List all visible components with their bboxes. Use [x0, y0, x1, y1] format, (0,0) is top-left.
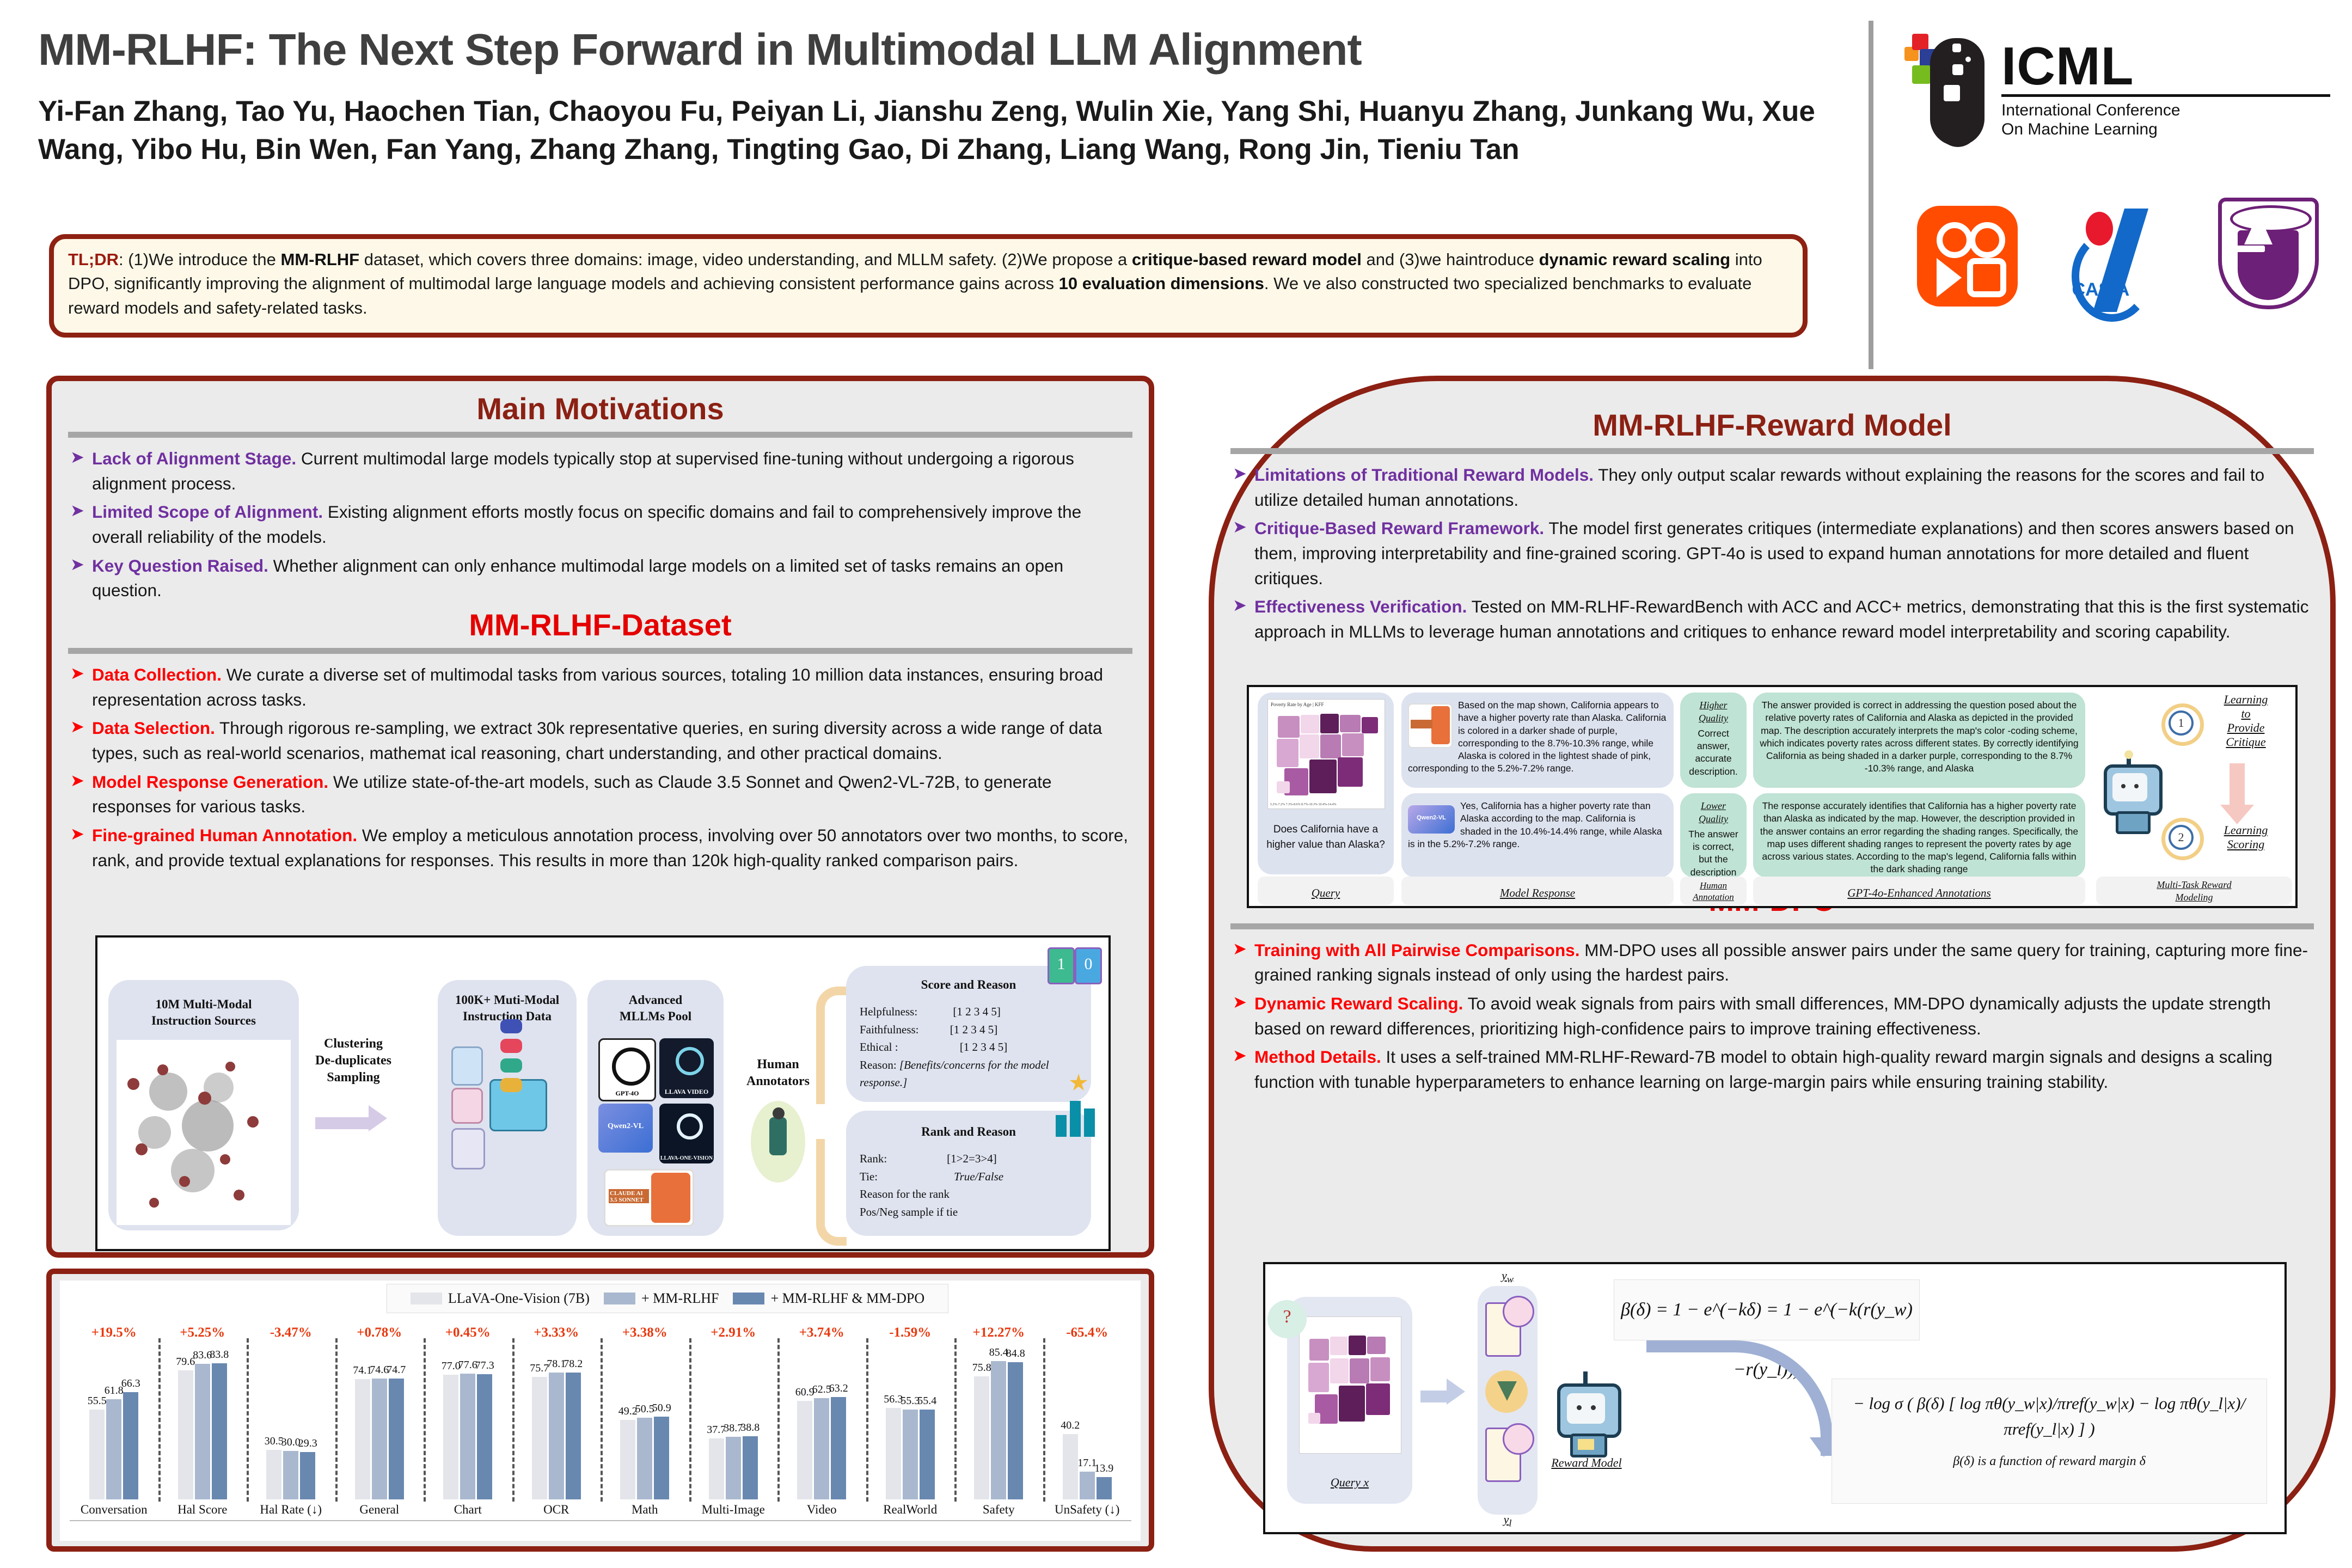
bar-group: 60.962.563.2	[777, 1353, 866, 1499]
score-key-2: Ethical :	[860, 1040, 898, 1053]
query-caption: Query	[1258, 877, 1394, 905]
bar-group: 75.778.178.2	[512, 1353, 601, 1499]
bullet-lead: Critique-Based Reward Framework.	[1254, 518, 1544, 538]
score-key-1: Faithfulness:	[860, 1023, 919, 1036]
bullet-lead: Key Question Raised.	[92, 556, 268, 575]
legend-swatch	[411, 1293, 442, 1304]
shield-icon	[451, 1128, 485, 1169]
section-title-reward-model: MM-RLHF-Reward Model	[1214, 407, 2330, 443]
stage1-line1: 10M Multi-Modal	[156, 997, 252, 1011]
dpo-list: ➤Training with All Pairwise Comparisons.…	[1214, 938, 2330, 1095]
annotators-line2: Annotators	[746, 1074, 810, 1088]
bar: 38.8	[743, 1436, 758, 1499]
bullet-arrow-icon: ➤	[1233, 462, 1247, 486]
reward-model-caption: Reward Model	[1548, 1456, 1625, 1470]
ha1-body: Correct answer, accurate description.	[1687, 727, 1740, 778]
bar: 74.6	[372, 1379, 387, 1499]
legend-label: + MM-RLHF	[641, 1290, 719, 1307]
bar-value-label: 84.8	[1000, 1347, 1031, 1360]
chat-bubble-icon	[451, 1088, 483, 1124]
chart-group: +3.33%75.778.178.2OCR	[512, 1323, 601, 1499]
chart-group: -1.59%56.355.355.4RealWorld	[866, 1323, 955, 1499]
human-annotation-caption: HumanAnnotation	[1680, 877, 1747, 905]
list-item: ➤Method Details. It uses a self-trained …	[1228, 1045, 2312, 1094]
mm-dpo-figure: Query x ? yw yl Reward Model β(δ) = 1 − …	[1263, 1262, 2287, 1534]
stage2-line1: 100K+ Muti-Modal	[455, 993, 559, 1007]
rank-key-0: Rank:	[860, 1152, 887, 1165]
step-2-badge: 2	[2161, 818, 2204, 860]
benchmark-bar-chart: LLaVA-One-Vision (7B)+ MM-RLHF+ MM-RLHF …	[60, 1281, 1141, 1541]
bar: 30.0	[283, 1451, 298, 1499]
bullet-arrow-icon: ➤	[1233, 593, 1247, 618]
reward-model-figure: Poverty Rate by Age | KFF 5.2%-7.2% 7.3%…	[1247, 685, 2298, 908]
bullet-lead: Model Response Generation.	[92, 772, 328, 792]
thumbs-down-icon	[1503, 1423, 1534, 1455]
logo-group: ICML International Conference On Machine…	[1889, 16, 2341, 365]
step-1-label: Learning to Provide Critique	[2205, 693, 2287, 749]
bar: 85.4	[991, 1361, 1006, 1499]
legend-label: LLaVA-One-Vision (7B)	[448, 1290, 590, 1307]
delta-label: -65.4%	[1043, 1325, 1132, 1340]
multitask-column: 1 Learning to Provide Critique 2 Learnin…	[2096, 693, 2292, 874]
qwen2vl-label: Qwen2-VL	[598, 1122, 653, 1131]
divider-dataset	[68, 648, 1132, 654]
chart-group: +0.45%77.077.677.3Chart	[424, 1323, 512, 1499]
group-separator	[247, 1338, 249, 1502]
tldr-part-3: critique-based reward model	[1132, 250, 1362, 269]
annotator-arrow-up-icon	[816, 987, 847, 1104]
delta-label: +0.45%	[424, 1325, 512, 1340]
bullet-body: It uses a self-trained MM-RLHF-Reward-7B…	[1254, 1047, 2273, 1092]
bullet-lead: Dynamic Reward Scaling.	[1254, 994, 1463, 1013]
llava-video-logo-icon: LLAVA VIDEO	[659, 1038, 714, 1098]
bar-value-label: 13.9	[1089, 1462, 1119, 1475]
flow-arrow-head-icon	[369, 1105, 387, 1131]
tldr-part-2: dataset, which covers three domains: ima…	[359, 250, 1132, 269]
casia-logo-icon: CASIA	[2062, 198, 2173, 315]
delta-label: +5.25%	[158, 1325, 247, 1340]
bar-group: 49.250.550.9	[601, 1353, 689, 1499]
robot-icon	[2100, 752, 2160, 829]
x-tick-label: RealWorld	[866, 1503, 955, 1517]
score-reason-key: Reason:	[860, 1058, 897, 1071]
bar: 77.6	[460, 1374, 475, 1499]
rank-extra-1: Reason for the rank	[860, 1185, 1088, 1203]
casia-label: CASIA	[2072, 279, 2129, 301]
bar-value-label: 40.2	[1055, 1419, 1086, 1432]
bullet-arrow-icon: ➤	[70, 499, 84, 523]
option-d-icon	[500, 1078, 522, 1092]
icml-wordmark: ICML International Conference On Machine…	[2001, 41, 2330, 139]
bullet-arrow-icon: ➤	[70, 661, 84, 686]
bullet-arrow-icon: ➤	[1233, 990, 1247, 1015]
tldr-box: TL;DR: (1)We introduce the MM-RLHF datas…	[49, 234, 1808, 338]
chart-plot-area: +19.5%55.561.866.3Conversation+5.25%79.6…	[70, 1323, 1131, 1519]
bar-group: 30.530.029.3	[247, 1353, 335, 1499]
step-2-label: Learning Scoring	[2205, 823, 2287, 852]
flow-arrow-shaft	[315, 1117, 370, 1129]
score-val-1: [1 2 3 4 5]	[950, 1023, 998, 1036]
response-caption: Model Response	[1401, 877, 1674, 905]
list-item: ➤Data Collection. We curate a diverse se…	[66, 663, 1130, 712]
x-tick-label: Hal Score	[158, 1503, 247, 1517]
thumbs-up-icon	[1503, 1296, 1534, 1327]
bar-group: 79.683.683.8	[158, 1353, 247, 1499]
bar: 17.1	[1080, 1472, 1095, 1499]
chart-group: -65.4%40.217.113.9UnSafety (↓)	[1043, 1323, 1132, 1499]
bullet-arrow-icon: ➤	[1233, 1044, 1247, 1068]
bar: 77.3	[477, 1374, 492, 1499]
bar-value-label: 63.2	[823, 1382, 854, 1395]
chart-group: +3.38%49.250.550.9Math	[601, 1323, 689, 1499]
arrow-label-2: De-duplicates	[315, 1053, 391, 1068]
claude-logo-icon: CLAUDE AI 3.5 SONNET	[604, 1169, 694, 1227]
x-tick-label: General	[335, 1503, 424, 1517]
tldr-part-1: MM-RLHF	[281, 250, 360, 269]
gpt-annotation-2: The response accurately identifies that …	[1753, 793, 2085, 878]
list-item: ➤Limited Scope of Alignment. Existing al…	[66, 500, 1130, 549]
bullet-arrow-icon: ➤	[70, 822, 84, 847]
author-list: Yi-Fan Zhang, Tao Yu, Haochen Tian, Chao…	[38, 93, 1829, 169]
bullet-lead: Limitations of Traditional Reward Models…	[1254, 465, 1594, 485]
bar: 55.5	[89, 1410, 105, 1499]
txt-file-icon	[451, 1046, 483, 1086]
divider-dpo	[1230, 923, 2314, 929]
bullet-lead: Data Collection.	[92, 665, 222, 684]
legend-item-2: + MM-RLHF & MM-DPO	[733, 1290, 924, 1307]
bar-group: 74.174.674.7	[335, 1353, 424, 1499]
x-tick-label: OCR	[512, 1503, 601, 1517]
score-key-0: Helpfulness:	[860, 1005, 917, 1018]
bar: 60.9	[797, 1401, 812, 1499]
page-title: MM-RLHF: The Next Step Forward in Multim…	[38, 24, 1824, 76]
dpo-flow-shaft	[1420, 1391, 1448, 1402]
x-tick-label: Hal Rate (↓)	[247, 1503, 335, 1517]
bar: 83.8	[212, 1363, 227, 1499]
tldr-part-5: dynamic reward scaling	[1539, 250, 1730, 269]
rank-val-0: [1>2=3>4]	[947, 1152, 997, 1165]
list-item: ➤Data Selection. Through rigorous re-sam…	[66, 716, 1130, 765]
tldr-part-0: : (1)We introduce the	[119, 250, 281, 269]
bar: 56.3	[886, 1408, 901, 1499]
bar-value-label: 50.9	[646, 1402, 677, 1414]
dataset-list: ➤Data Collection. We curate a diverse se…	[52, 663, 1149, 873]
bullet-arrow-icon: ➤	[70, 445, 84, 470]
list-item: ➤Effectiveness Verification. Tested on M…	[1228, 595, 2312, 644]
list-item: ➤Model Response Generation. We utilize s…	[66, 770, 1130, 819]
option-c-icon	[500, 1058, 522, 1073]
query-column: Poverty Rate by Age | KFF 5.2%-7.2% 7.3%…	[1258, 693, 1394, 874]
bar: 74.7	[389, 1379, 404, 1499]
legend-item-0: LLaVA-One-Vision (7B)	[411, 1290, 590, 1307]
chart-group: +2.91%37.738.738.8Multi-Image	[689, 1323, 778, 1499]
bullet-arrow-icon: ➤	[1233, 515, 1247, 540]
bullet-arrow-icon: ➤	[70, 769, 84, 793]
legend-label: + MM-RLHF & MM-DPO	[770, 1290, 924, 1307]
gpt-annotation-1: The answer provided is correct in addres…	[1753, 693, 2085, 788]
bar: 55.4	[920, 1410, 935, 1499]
icml-logo: ICML International Conference On Machine…	[1900, 22, 2330, 158]
bar: 75.8	[974, 1376, 989, 1499]
rank-extra-2: Pos/Neg sample if tie	[860, 1203, 1088, 1221]
legend-item-1: + MM-RLHF	[604, 1290, 719, 1307]
rank-key-1: Tie:	[860, 1170, 878, 1183]
list-item: ➤Lack of Alignment Stage. Current multim…	[66, 446, 1130, 496]
tsne-scatter-plot	[117, 1040, 291, 1225]
bullet-lead: Effectiveness Verification.	[1254, 597, 1467, 616]
bar-group: 75.885.484.8	[954, 1353, 1043, 1499]
x-tick-label: Video	[777, 1503, 866, 1517]
bar: 83.6	[195, 1364, 210, 1499]
human-annotation-1: Higher Quality Correct answer, accurate …	[1680, 693, 1747, 788]
score-val-0: [1 2 3 4 5]	[953, 1005, 1001, 1018]
model-response-1: Based on the map shown, California appea…	[1401, 693, 1674, 788]
list-item: ➤Critique-Based Reward Framework. The mo…	[1228, 516, 2312, 591]
bullet-lead: Fine-grained Human Annotation.	[92, 825, 357, 845]
ha2-head-2: Quality	[1687, 813, 1740, 826]
score-badge-1: 1	[1048, 947, 1075, 984]
icml-acronym: ICML	[2001, 41, 2330, 91]
chart-group: +3.74%60.962.563.2Video	[777, 1323, 866, 1499]
arrow-label-1: Clustering	[324, 1037, 383, 1051]
tldr-part-4: and (3)we haintroduce	[1362, 250, 1539, 269]
x-tick-label: Chart	[424, 1503, 512, 1517]
option-b-icon	[500, 1039, 522, 1053]
dpo-query-card: Query x	[1287, 1297, 1412, 1504]
bullet-lead: Data Selection.	[92, 718, 215, 738]
bar-value-label: 29.3	[292, 1437, 323, 1450]
bar-group: 37.738.738.8	[689, 1353, 778, 1499]
legend-swatch	[733, 1293, 764, 1304]
bar-group: 55.561.866.3	[70, 1353, 158, 1499]
bar: 13.9	[1097, 1477, 1112, 1499]
icml-mark-icon	[1900, 33, 1987, 147]
chart-legend: LLaVA-One-Vision (7B)+ MM-RLHF+ MM-RLHF …	[387, 1284, 948, 1313]
bar: 61.8	[106, 1399, 121, 1499]
bullet-lead: Lack of Alignment Stage.	[92, 449, 296, 468]
header-divider	[1869, 21, 1873, 369]
x-tick-label: Multi-Image	[689, 1503, 778, 1517]
bar-value-label: 66.3	[115, 1377, 146, 1390]
stage3-line1: Advanced	[629, 993, 682, 1007]
chart-x-axis	[70, 1520, 1131, 1521]
x-tick-label: Safety	[954, 1503, 1043, 1517]
affiliation-logos: CASIA 1902	[1895, 166, 2341, 346]
dpo-flow-head-icon	[1447, 1379, 1465, 1405]
bullet-lead: Method Details.	[1254, 1047, 1381, 1067]
list-item: ➤Limitations of Traditional Reward Model…	[1228, 463, 2312, 512]
yl-label: yl	[1478, 1512, 1538, 1529]
gpt4o-label: GPT-4O	[600, 1089, 654, 1098]
delta-label: +0.78%	[335, 1325, 424, 1340]
rank-card-title: Rank and Reason	[846, 1124, 1091, 1140]
icml-subtitle-line2: On Machine Learning	[2001, 120, 2330, 139]
legend-swatch	[604, 1293, 635, 1304]
bar-chart-icon	[1056, 1101, 1097, 1137]
bar: 37.7	[709, 1438, 724, 1499]
gpt-annotation-caption: GPT-4o-Enhanced Annotations	[1753, 877, 2085, 905]
bar: 50.9	[654, 1417, 669, 1499]
list-item: ➤Fine-grained Human Annotation. We emplo…	[66, 823, 1130, 873]
multitask-caption: Multi-Task RewardModeling	[2096, 877, 2292, 905]
delta-label: +19.5%	[70, 1325, 158, 1340]
llava-onevision-logo-icon: LLAVA-ONE-VISION	[659, 1104, 714, 1163]
bar: 55.3	[903, 1410, 918, 1499]
bullet-lead: Limited Scope of Alignment.	[92, 502, 323, 522]
beta-equation: β(δ) = 1 − e^(−kδ) = 1 − e^(−k(r(y_w)−r(…	[1614, 1279, 1920, 1340]
annotator-arrow-down-icon	[816, 1139, 847, 1246]
dpo-loss-equation-box: − log σ ( β(δ) [ log πθ(y_w|x)/πref(y_w|…	[1832, 1379, 2267, 1504]
model-response-2: Qwen2-VL Yes, California has a higher po…	[1401, 793, 1674, 878]
chart-group: +19.5%55.561.866.3Conversation	[70, 1323, 158, 1499]
kuaishou-logo-icon	[1917, 206, 2018, 307]
step-1-badge: 1	[2161, 703, 2204, 746]
score-val-2: [1 2 3 4 5]	[960, 1040, 1008, 1053]
qwen2vl-logo-icon: Qwen2-VL	[598, 1104, 653, 1153]
dpo-loss-equation: − log σ ( β(δ) [ log πθ(y_w|x)/πref(y_w|…	[1840, 1391, 2259, 1442]
group-separator	[689, 1338, 691, 1502]
section-title-dataset: MM-RLHF-Dataset	[52, 607, 1149, 642]
dpo-query-caption: Query x	[1287, 1475, 1412, 1490]
stage3-line2: MLLMs Pool	[620, 1009, 691, 1023]
bullet-arrow-icon: ➤	[70, 553, 84, 577]
query-text: Does California have a higher value than…	[1265, 822, 1386, 852]
tldr-label: TL;DR	[68, 250, 119, 269]
claude-response-logo-icon	[1408, 703, 1453, 748]
bar: 75.7	[532, 1377, 547, 1499]
us-poverty-map: Poverty Rate by Age | KFF 5.2%-7.2% 7.3%…	[1267, 699, 1385, 809]
x-tick-label: UnSafety (↓)	[1043, 1503, 1132, 1517]
dataset-pipeline-figure: 10M Multi-Modal Instruction Sources Clus…	[95, 935, 1111, 1251]
chart-group: +12.27%75.885.484.8Safety	[954, 1323, 1043, 1499]
bullet-arrow-icon: ➤	[1233, 937, 1247, 961]
claude-label: CLAUDE AI 3.5 SONNET	[610, 1190, 648, 1203]
motivations-list: ➤Lack of Alignment Stage. Current multim…	[52, 446, 1149, 603]
list-item: ➤Key Question Raised. Whether alignment …	[66, 554, 1130, 603]
chart-group: -3.47%30.530.029.3Hal Rate (↓)	[247, 1323, 335, 1499]
bar-group: 56.355.355.4	[866, 1353, 955, 1499]
delta-label: +3.74%	[777, 1325, 866, 1340]
bar: 30.5	[266, 1450, 281, 1499]
bullet-lead: Training with All Pairwise Comparisons.	[1254, 940, 1579, 960]
list-item: ➤Training with All Pairwise Comparisons.…	[1228, 938, 2312, 988]
bar: 49.2	[620, 1420, 635, 1500]
rank-val-1: True/False	[954, 1170, 1003, 1183]
scale-icon	[1485, 1370, 1528, 1413]
annotator-avatar	[751, 1101, 805, 1183]
bar-value-label: 83.8	[204, 1349, 235, 1361]
bar-group: 40.217.113.9	[1043, 1353, 1132, 1499]
rank-rows: Rank:[1>2=3>4] Tie:True/False Reason for…	[860, 1150, 1088, 1221]
section-title-motivations: Main Motivations	[52, 391, 1149, 426]
score-rows: Helpfulness: [1 2 3 4 5] Faithfulness: […	[860, 1003, 1088, 1092]
bar: 66.3	[123, 1392, 138, 1499]
bar: 84.8	[1008, 1362, 1023, 1500]
divider-motivations	[68, 432, 1132, 438]
option-a-icon	[500, 1019, 522, 1033]
bullet-body: Through rigorous re-sampling, we extract…	[92, 718, 1102, 763]
bar: 50.5	[637, 1418, 652, 1499]
stage1-line2: Instruction Sources	[151, 1014, 256, 1027]
bar-value-label: 55.4	[912, 1395, 942, 1407]
bar: 74.1	[355, 1379, 370, 1499]
nju-founding-year: 1902	[2218, 279, 2319, 291]
bar-value-label: 78.2	[558, 1358, 589, 1370]
question-bubble-icon: ?	[1267, 1300, 1307, 1338]
tldr-part-7: 10 evaluation dimensions	[1059, 274, 1264, 293]
nanjing-university-logo-icon: 1902	[2218, 198, 2319, 315]
annotators-line1: Human	[757, 1057, 799, 1071]
map-title: Poverty Rate by Age | KFF	[1271, 702, 1324, 707]
llava-onevision-label: LLAVA-ONE-VISION	[659, 1155, 714, 1161]
delta-label: +2.91%	[689, 1325, 778, 1340]
score-badge-0: 0	[1075, 947, 1102, 984]
bar: 77.0	[443, 1375, 458, 1499]
delta-label: +12.27%	[954, 1325, 1043, 1340]
list-item: ➤Dynamic Reward Scaling. To avoid weak s…	[1228, 991, 2312, 1041]
bar: 38.7	[726, 1437, 741, 1499]
bar: 78.2	[566, 1373, 581, 1499]
bar-value-label: 77.3	[469, 1359, 500, 1372]
ha1-head-1: Higher	[1687, 699, 1740, 712]
bullet-arrow-icon: ➤	[70, 715, 84, 739]
dpo-robot-icon	[1554, 1370, 1619, 1452]
chart-group: +0.78%74.174.674.7General	[335, 1323, 424, 1499]
ha2-head-1: Lower	[1687, 800, 1740, 813]
ha1-head-2: Quality	[1687, 712, 1740, 725]
human-annotation-2: Lower Quality The answer is correct, but…	[1680, 793, 1747, 878]
bar-value-label: 74.7	[381, 1364, 412, 1376]
map-legend: 5.2%-7.2% 7.3%-8.6% 8.7%-10.3% 10.4%-14.…	[1270, 803, 1337, 806]
group-separator	[1043, 1338, 1045, 1502]
delta-label: -1.59%	[866, 1325, 955, 1340]
icml-subtitle-line1: International Conference	[2001, 101, 2330, 120]
bar: 62.5	[814, 1398, 829, 1499]
divider-reward-model	[1230, 448, 2314, 454]
curved-arrow-icon	[1646, 1340, 1833, 1456]
bar: 63.2	[831, 1397, 846, 1499]
bar-value-label: 38.8	[735, 1422, 765, 1434]
bar: 79.6	[178, 1370, 193, 1499]
x-tick-label: Conversation	[70, 1503, 158, 1517]
step-flow-arrow-icon	[2229, 763, 2245, 807]
poster-header: MM-RLHF: The Next Step Forward in Multim…	[0, 0, 2352, 370]
dpo-us-map	[1299, 1316, 1401, 1454]
reward-model-list: ➤Limitations of Traditional Reward Model…	[1214, 463, 2330, 645]
gpt4o-logo-icon: GPT-4O	[598, 1038, 656, 1101]
dpo-equation-caption: β(δ) is a function of reward margin δ	[1840, 1451, 2259, 1471]
delta-label: +3.33%	[512, 1325, 601, 1340]
llava-video-label: LLAVA VIDEO	[659, 1088, 714, 1096]
qwen-response-logo-icon: Qwen2-VL	[1408, 805, 1455, 834]
arrow-label-3: Sampling	[327, 1070, 379, 1085]
bar: 78.1	[549, 1373, 564, 1499]
bar: 29.3	[300, 1452, 315, 1499]
delta-label: +3.38%	[601, 1325, 689, 1340]
chart-group: +5.25%79.683.683.8Hal Score	[158, 1323, 247, 1499]
delta-label: -3.47%	[247, 1325, 335, 1340]
yw-label: yw	[1478, 1269, 1538, 1285]
bullet-body: We curate a diverse set of multimodal ta…	[92, 665, 1103, 709]
x-tick-label: Math	[601, 1503, 689, 1517]
bar-group: 77.077.677.3	[424, 1353, 512, 1499]
